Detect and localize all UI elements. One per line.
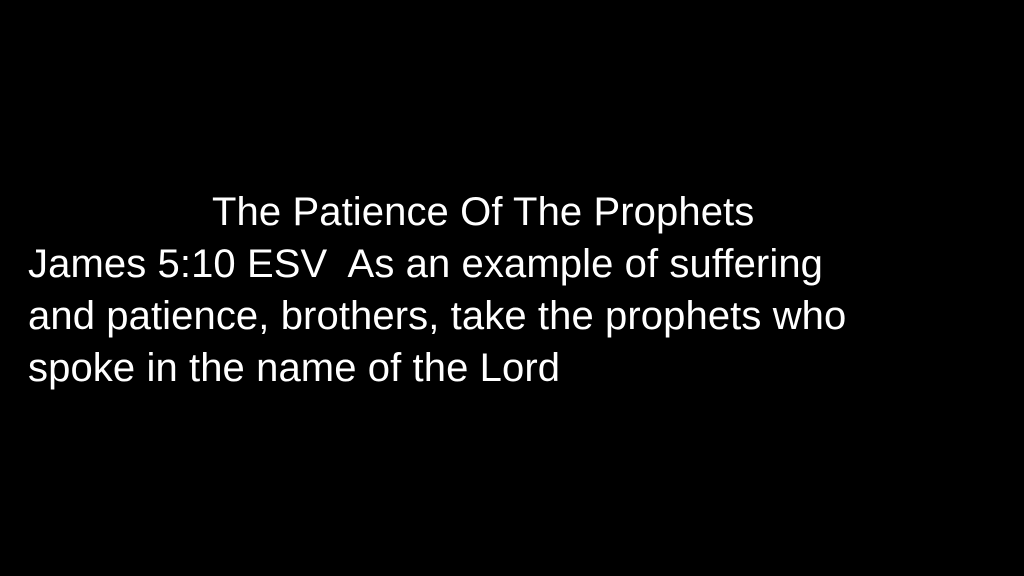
caption-line-body-end: spoke in the name of the Lord <box>0 342 1024 394</box>
caption-line-reference-and-body-start: James 5:10 ESV As an example of sufferin… <box>0 238 1024 290</box>
caption-line-body-continued: and patience, brothers, take the prophet… <box>0 290 1024 342</box>
caption-slide: The Patience Of The Prophets James 5:10 … <box>0 0 1024 576</box>
caption-line-title: The Patience Of The Prophets <box>0 186 1024 238</box>
caption-text-block: The Patience Of The Prophets James 5:10 … <box>0 0 1024 394</box>
